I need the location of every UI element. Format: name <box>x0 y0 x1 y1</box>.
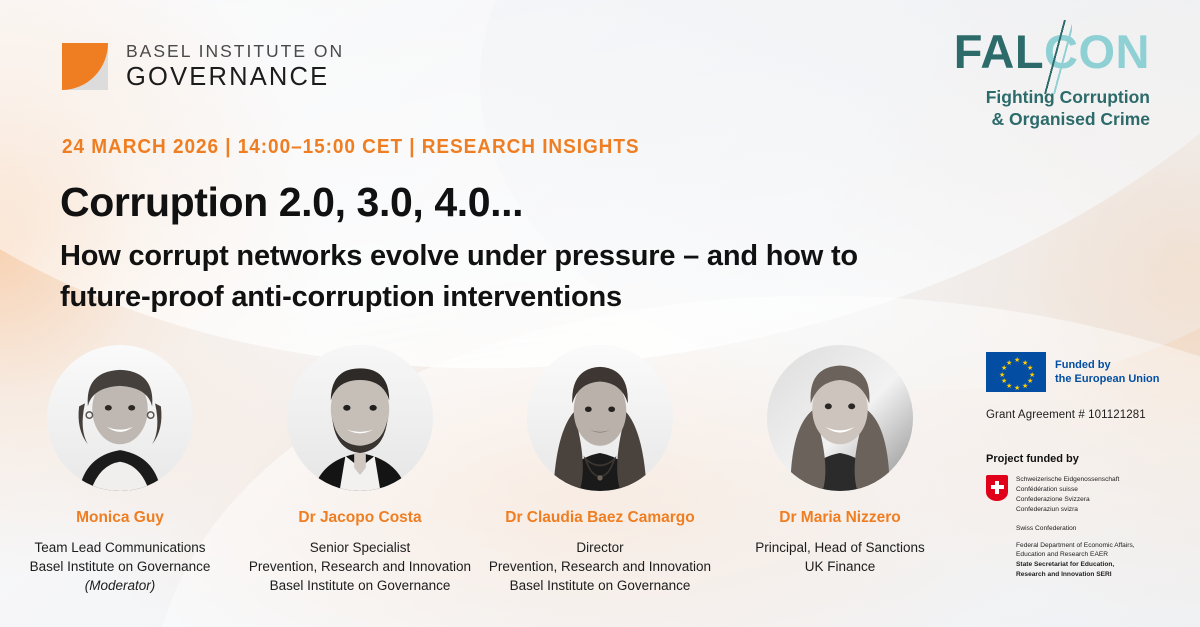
eu-flag-icon: ★ ★ ★ ★ ★ ★ ★ ★ ★ ★ ★ ★ <box>986 352 1046 392</box>
basel-logo-line2: GOVERNANCE <box>126 65 344 91</box>
swiss-dept-line3: State Secretariat for Education, <box>1016 561 1114 568</box>
basel-logo-line1: BASEL INSTITUTE ON <box>126 43 344 61</box>
page-subtitle-line2: future-proof anti-corruption interventio… <box>60 277 950 318</box>
swiss-name-fr: Confédération suisse <box>1016 485 1119 495</box>
swiss-name-rm: Confederaziun svizra <box>1016 505 1119 515</box>
speaker-role-line3: Basel Institute on Governance <box>240 576 480 595</box>
speaker-role-line3: (Moderator) <box>0 576 240 595</box>
falcon-project-logo: FALCON Fighting Corruption & Organised C… <box>954 28 1150 131</box>
portrait-monica-guy-icon <box>47 345 193 491</box>
page-subtitle: How corrupt networks evolve under pressu… <box>60 236 950 318</box>
eu-funding-line2: the European Union <box>1055 372 1160 386</box>
portrait-claudia-baez-camargo-icon <box>527 345 673 491</box>
falcon-tagline-line1: Fighting Corruption <box>954 87 1150 109</box>
speaker-role-line1: Director <box>480 538 720 557</box>
swiss-name-it: Confederazione Svizzera <box>1016 495 1119 505</box>
speaker-role-line2: Prevention, Research and Innovation <box>240 557 480 576</box>
speaker-card: Dr Claudia Baez Camargo Director Prevent… <box>480 345 720 595</box>
speaker-role-line1: Principal, Head of Sanctions <box>720 538 960 557</box>
speaker-card: Monica Guy Team Lead Communications Base… <box>0 345 240 595</box>
swiss-name-en: Swiss Confederation <box>1016 525 1182 532</box>
portrait-maria-nizzero-icon <box>767 345 913 491</box>
page-subtitle-line1: How corrupt networks evolve under pressu… <box>60 236 950 277</box>
speaker-name: Monica Guy <box>0 509 240 528</box>
eu-funding-block: ★ ★ ★ ★ ★ ★ ★ ★ ★ ★ ★ ★ Funded by the Eu… <box>986 352 1182 392</box>
avatar <box>47 345 193 491</box>
speaker-role-line1: Senior Specialist <box>240 538 480 557</box>
speaker-role: Team Lead Communications Basel Institute… <box>0 538 240 595</box>
project-funded-by-label: Project funded by <box>986 453 1182 465</box>
swiss-name-de: Schweizerische Eidgenossenschaft <box>1016 475 1119 485</box>
speaker-role-line3: Basel Institute on Governance <box>480 576 720 595</box>
swiss-cross-icon <box>986 475 1008 501</box>
speaker-role-line2: UK Finance <box>720 557 960 576</box>
basel-institute-logo: BASEL INSTITUTE ON GOVERNANCE <box>62 43 344 90</box>
swiss-confederation-block: Schweizerische Eidgenossenschaft Confédé… <box>986 475 1182 515</box>
avatar <box>527 345 673 491</box>
speaker-role: Senior Specialist Prevention, Research a… <box>240 538 480 595</box>
speaker-name: Dr Claudia Baez Camargo <box>480 509 720 528</box>
swiss-dept-line4: Research and Innovation SERI <box>1016 571 1112 578</box>
falcon-tagline: Fighting Corruption & Organised Crime <box>954 87 1150 131</box>
eu-funding-text: Funded by the European Union <box>1055 358 1160 387</box>
basel-logo-wordmark: BASEL INSTITUTE ON GOVERNANCE <box>126 43 344 90</box>
falcon-wordmark: FALCON <box>954 28 1150 75</box>
speaker-role-line2: Basel Institute on Governance <box>0 557 240 576</box>
avatar <box>767 345 913 491</box>
falcon-wordmark-part1: FAL <box>954 25 1044 78</box>
falcon-wordmark-part2: CON <box>1044 25 1150 78</box>
speaker-name: Dr Jacopo Costa <box>240 509 480 528</box>
event-kicker: 24 MARCH 2026 | 14:00–15:00 CET | RESEAR… <box>62 136 640 159</box>
speaker-card: Dr Jacopo Costa Senior Specialist Preven… <box>240 345 480 595</box>
speaker-role: Director Prevention, Research and Innova… <box>480 538 720 595</box>
avatar <box>287 345 433 491</box>
falcon-tagline-line2: & Organised Crime <box>954 109 1150 131</box>
funding-panel: ★ ★ ★ ★ ★ ★ ★ ★ ★ ★ ★ ★ Funded by the Eu… <box>986 352 1182 580</box>
speaker-name: Dr Maria Nizzero <box>720 509 960 528</box>
swiss-confederation-names: Schweizerische Eidgenossenschaft Confédé… <box>1016 475 1119 515</box>
speaker-role: Principal, Head of Sanctions UK Finance <box>720 538 960 576</box>
basel-logo-mark-icon <box>62 43 108 90</box>
swiss-department-text: Federal Department of Economic Affairs, … <box>1016 541 1182 581</box>
swiss-dept-line1: Federal Department of Economic Affairs, <box>1016 541 1182 551</box>
speaker-card: Dr Maria Nizzero Principal, Head of Sanc… <box>720 345 960 595</box>
speaker-role-line1: Team Lead Communications <box>0 538 240 557</box>
speakers-list: Monica Guy Team Lead Communications Base… <box>0 345 960 595</box>
page-title: Corruption 2.0, 3.0, 4.0... <box>60 179 523 226</box>
portrait-jacopo-costa-icon <box>287 345 433 491</box>
swiss-dept-line2: Education and Research EAER <box>1016 550 1182 560</box>
eu-funding-line1: Funded by <box>1055 358 1160 372</box>
grant-agreement-text: Grant Agreement # 101121281 <box>986 409 1182 421</box>
speaker-role-line2: Prevention, Research and Innovation <box>480 557 720 576</box>
